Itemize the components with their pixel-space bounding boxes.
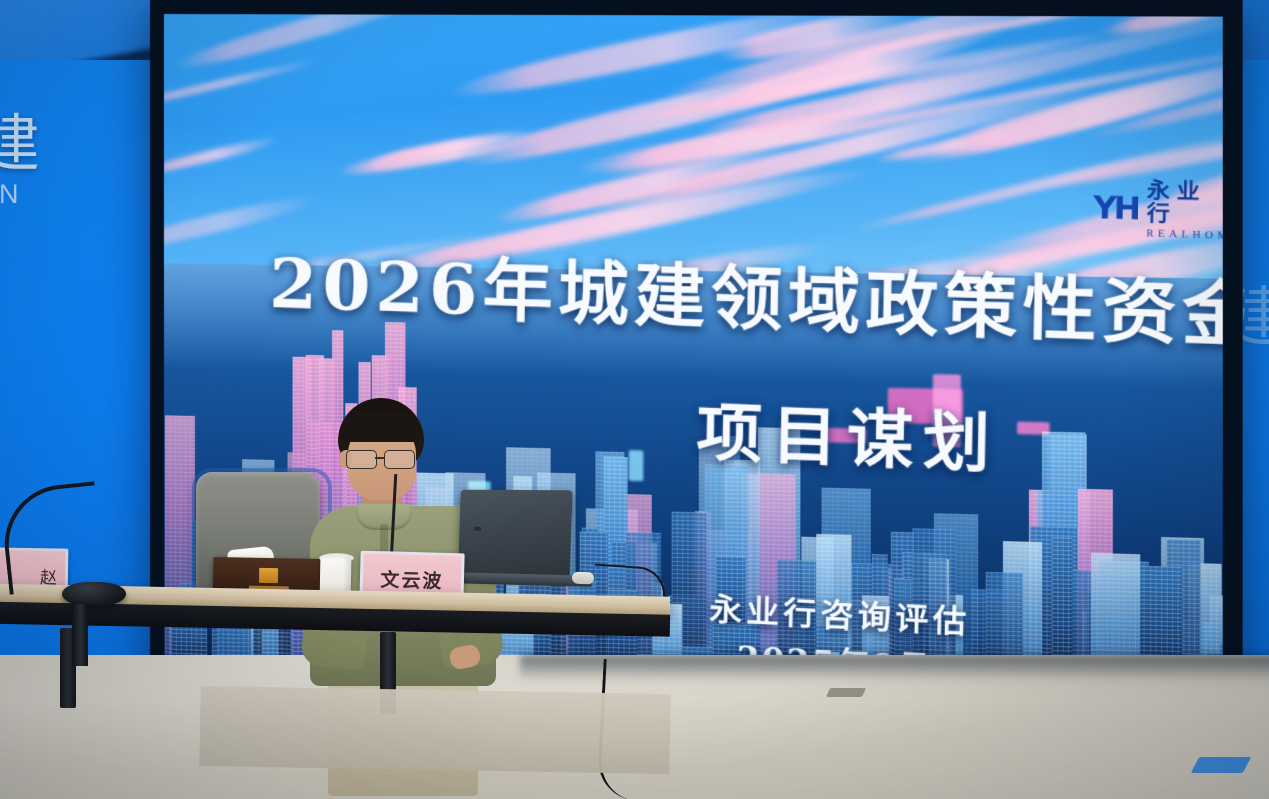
brand-english-name: REALHOM xyxy=(1146,228,1223,242)
speaker-fringe xyxy=(340,412,422,442)
conference-room-scene: 建 AN 建 2026年城建领域政策性资金争取与 项目谋划 永业行咨询评估 20… xyxy=(0,0,1269,799)
mouse xyxy=(572,572,594,585)
eyeglasses-icon xyxy=(346,450,418,467)
slide-title-line-2: 项目谋划 xyxy=(696,380,1001,485)
slide-title-line-1: 2026年城建领域政策性资金争取与 xyxy=(269,227,1223,370)
glasses-lens-left xyxy=(384,450,415,469)
wall-sign-left-latin: AN xyxy=(0,179,70,210)
glasses-bridge xyxy=(375,457,384,459)
microphone-post xyxy=(72,604,88,666)
wall-sign-left: 建 AN xyxy=(0,115,70,255)
wall-sign-left-glyph: 建 xyxy=(0,115,70,173)
laptop xyxy=(458,490,573,582)
floor-vent xyxy=(826,688,866,697)
brand-monogram-icon: YH xyxy=(1093,189,1138,227)
laptop-logo-icon xyxy=(474,527,481,531)
gift-box-emblem-icon xyxy=(259,568,278,583)
microphone-base xyxy=(62,582,126,606)
brand-chinese-name: 永业行 xyxy=(1146,179,1222,228)
desk-modesty-panel xyxy=(199,686,670,774)
nameplate-primary-text: 文云波 xyxy=(380,565,444,594)
slide-brand-logo: YH 永业行 REALHOM xyxy=(1093,177,1223,242)
glasses-lens-right xyxy=(346,450,377,469)
floor-marker xyxy=(1191,757,1252,773)
